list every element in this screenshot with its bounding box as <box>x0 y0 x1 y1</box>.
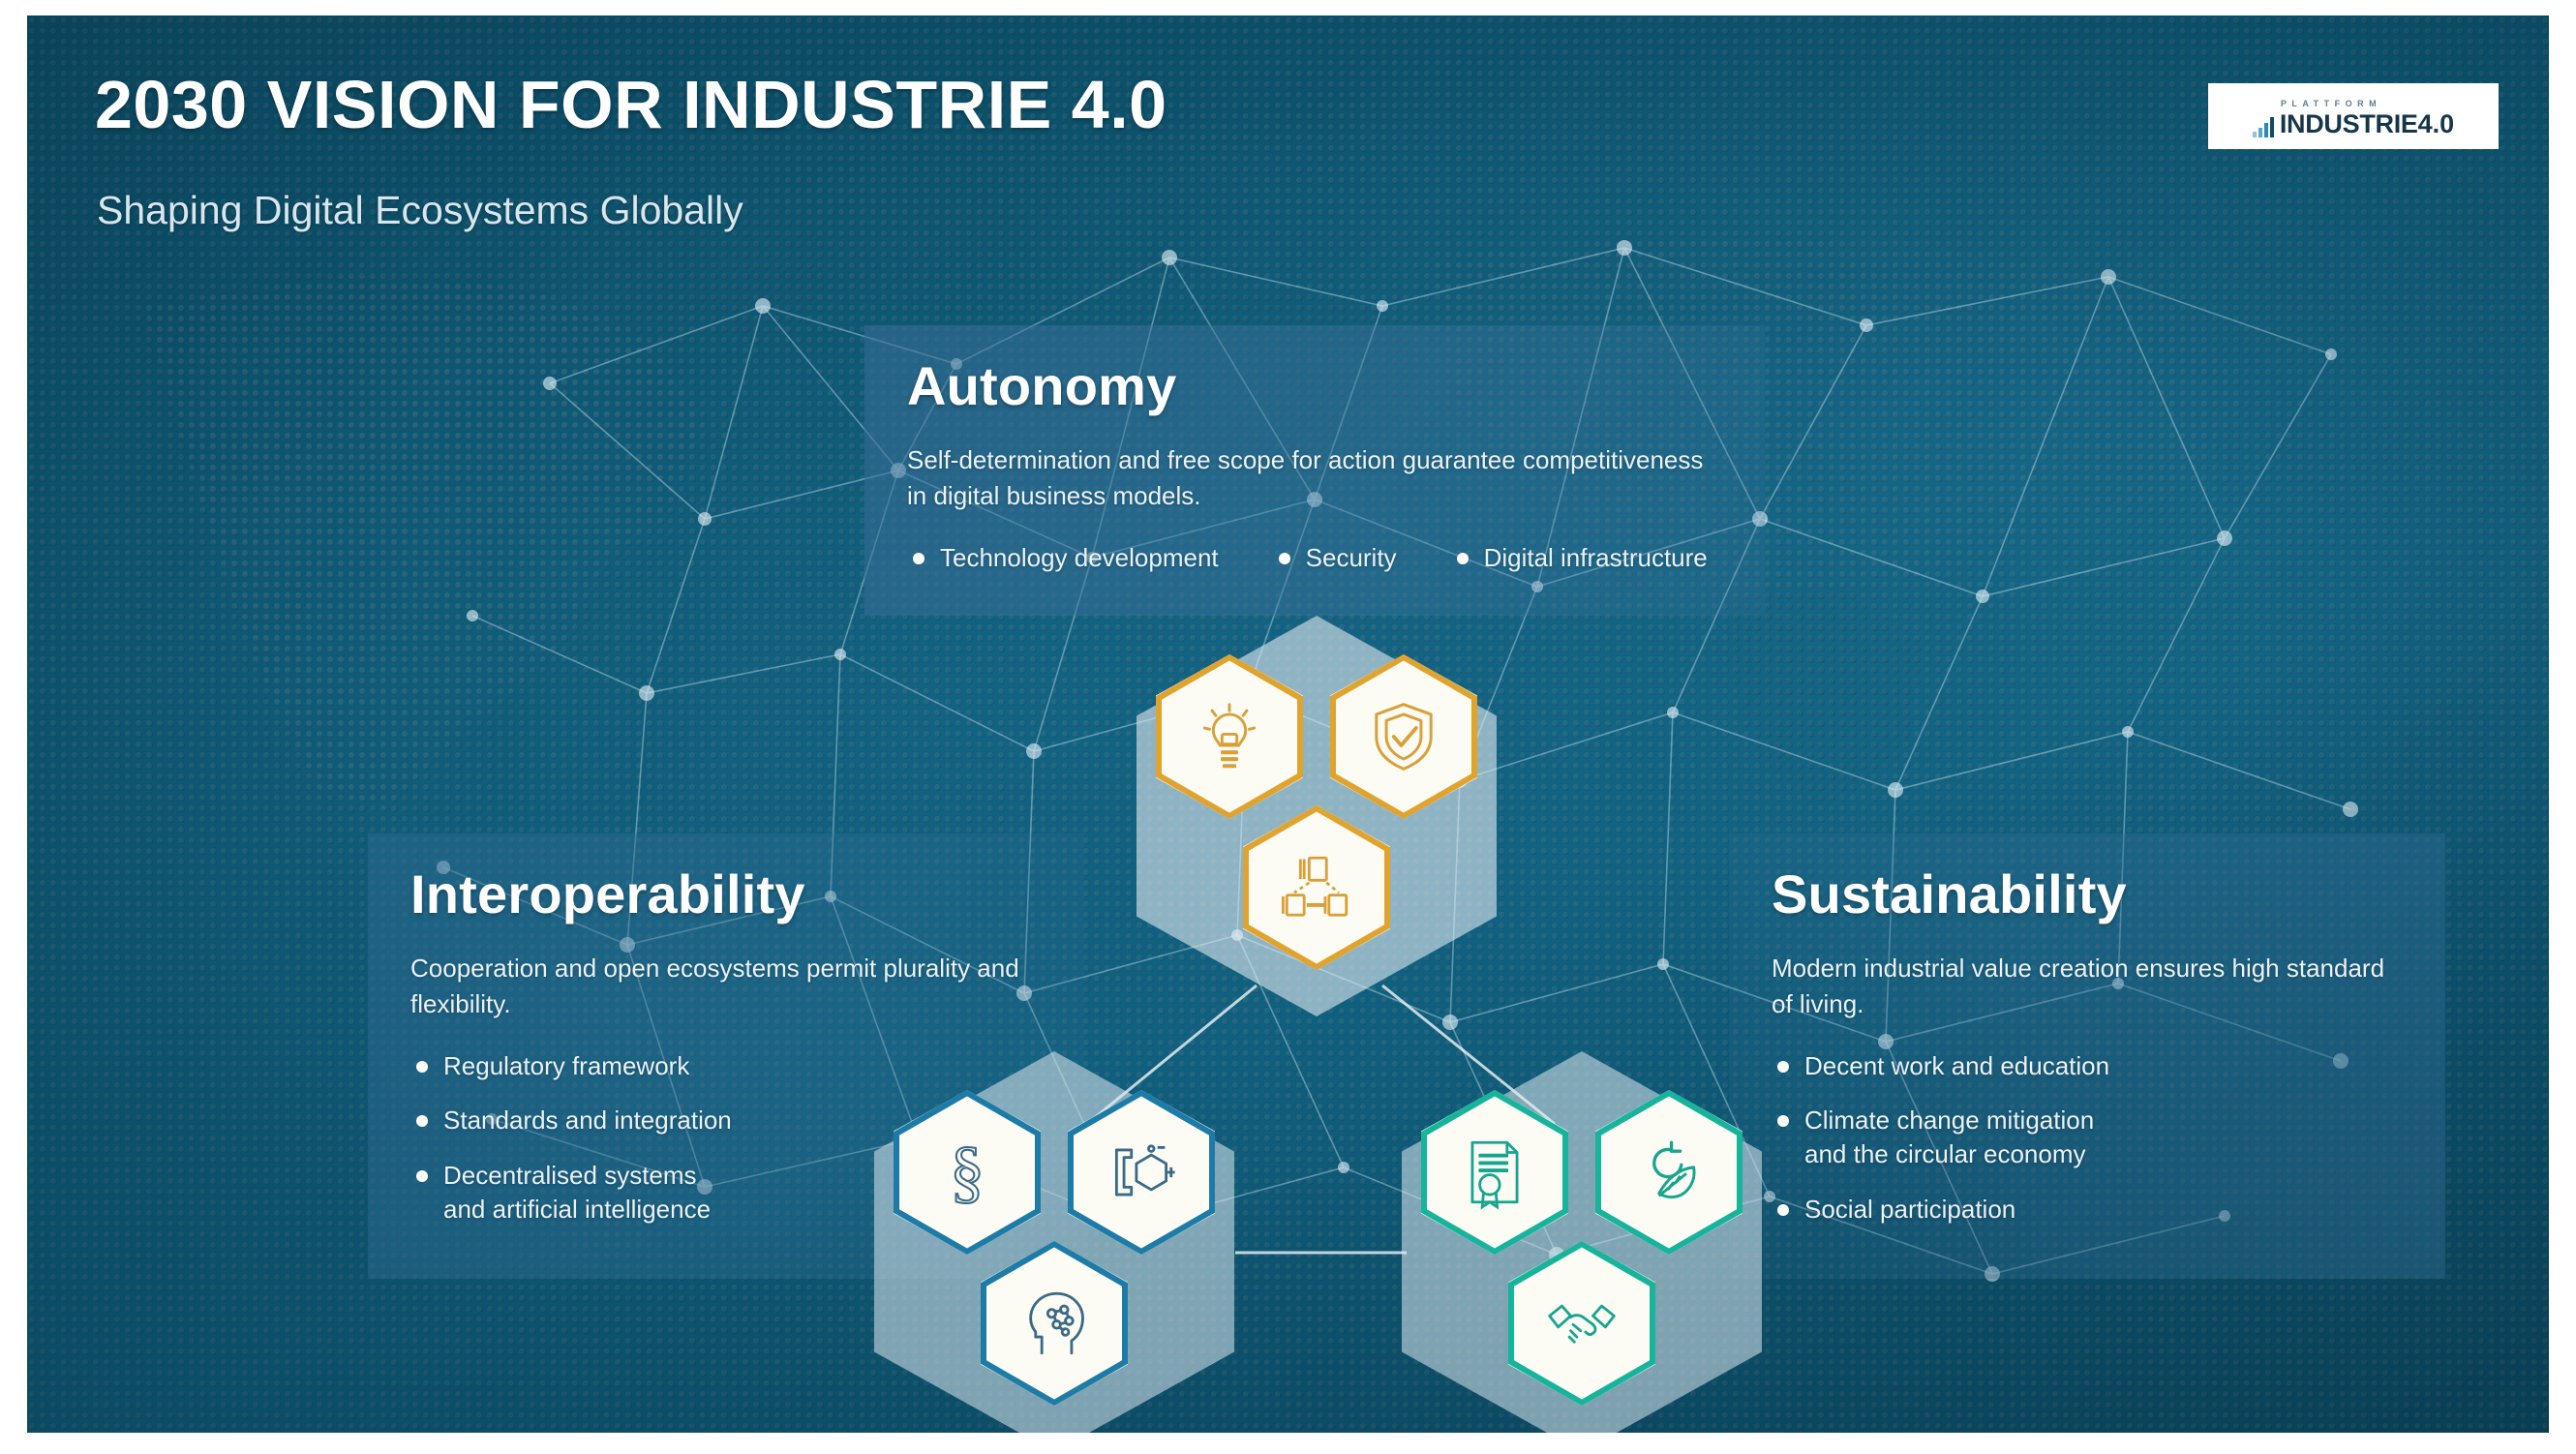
panel-interoperability-heading: Interoperability <box>410 863 1042 925</box>
bar-chart-icon <box>2253 116 2274 137</box>
lightbulb-icon <box>1190 697 1269 776</box>
head-brain-ai-icon <box>1015 1284 1094 1363</box>
section-sign-icon: § <box>927 1133 1007 1212</box>
hex-tile-standards-integration[interactable] <box>1068 1090 1215 1255</box>
list-item: Decent work and education <box>1772 1049 2403 1083</box>
shield-check-icon <box>1364 697 1443 776</box>
logo-name: INDUSTRIE <box>2280 109 2418 138</box>
list-item-line2: and the circular economy <box>1804 1139 2085 1168</box>
panel-sustainability-description: Modern industrial value creation ensures… <box>1772 951 2403 1022</box>
list-item: Security <box>1273 541 1397 575</box>
slide-header: 2030 VISION FOR INDUSTRIE 4.0 Shaping Di… <box>27 15 2549 291</box>
panel-interoperability-description: Cooperation and open ecosystems permit p… <box>410 951 1042 1022</box>
hex-tile-ai-decentralised-systems[interactable] <box>981 1241 1128 1406</box>
svg-text:§: § <box>950 1133 985 1210</box>
page-title: 2030 VISION FOR INDUSTRIE 4.0 <box>95 66 1167 143</box>
hex-cluster-sustainability <box>1402 1051 1762 1433</box>
certificate-icon <box>1455 1133 1534 1212</box>
standards-hexagon-icon <box>1102 1133 1181 1212</box>
panel-autonomy-heading: Autonomy <box>907 354 1722 417</box>
hex-tile-digital-infrastructure[interactable] <box>1243 805 1390 970</box>
hex-tile-technology-development[interactable] <box>1156 654 1303 819</box>
list-item: Climate change mitigation and the circul… <box>1772 1104 2403 1170</box>
list-item-line2: and artificial intelligence <box>443 1195 711 1224</box>
hex-tile-security[interactable] <box>1330 654 1477 819</box>
hex-cluster-interoperability: § <box>874 1051 1234 1433</box>
hex-tile-regulatory-framework[interactable]: § <box>894 1090 1041 1255</box>
list-item: Social participation <box>1772 1193 2403 1227</box>
handshake-icon <box>1542 1284 1621 1363</box>
hex-cluster-autonomy <box>1136 616 1497 1016</box>
panel-autonomy-description: Self-determination and free scope for ac… <box>907 442 1722 514</box>
list-item: Technology development <box>907 541 1219 575</box>
hex-tile-social-participation[interactable] <box>1508 1241 1655 1406</box>
panel-sustainability: Sustainability Modern industrial value c… <box>1729 833 2445 1279</box>
recycle-leaf-icon <box>1629 1133 1709 1212</box>
panel-sustainability-bullets: Decent work and education Climate change… <box>1772 1049 2403 1226</box>
list-item-line1: Climate change mitigation <box>1804 1106 2094 1135</box>
server-network-icon <box>1277 848 1356 927</box>
logo-version: 4.0 <box>2418 109 2455 138</box>
logo-platform-label: PLATTFORM <box>2281 100 2454 108</box>
platform-industrie-logo: PLATTFORM INDUSTRIE4.0 <box>2208 83 2499 149</box>
list-item: Digital infrastructure <box>1451 541 1708 575</box>
page-subtitle: Shaping Digital Ecosystems Globally <box>97 188 743 233</box>
panel-autonomy: Autonomy Self-determination and free sco… <box>864 325 1765 616</box>
panel-autonomy-bullets: Technology development Security Digital … <box>907 541 1722 575</box>
slide-canvas: 2030 VISION FOR INDUSTRIE 4.0 Shaping Di… <box>27 15 2549 1433</box>
hex-tile-decent-work-education[interactable] <box>1421 1090 1568 1255</box>
panel-sustainability-heading: Sustainability <box>1772 863 2403 925</box>
hex-tile-circular-economy[interactable] <box>1595 1090 1743 1255</box>
list-item-line1: Decentralised systems <box>443 1161 697 1190</box>
